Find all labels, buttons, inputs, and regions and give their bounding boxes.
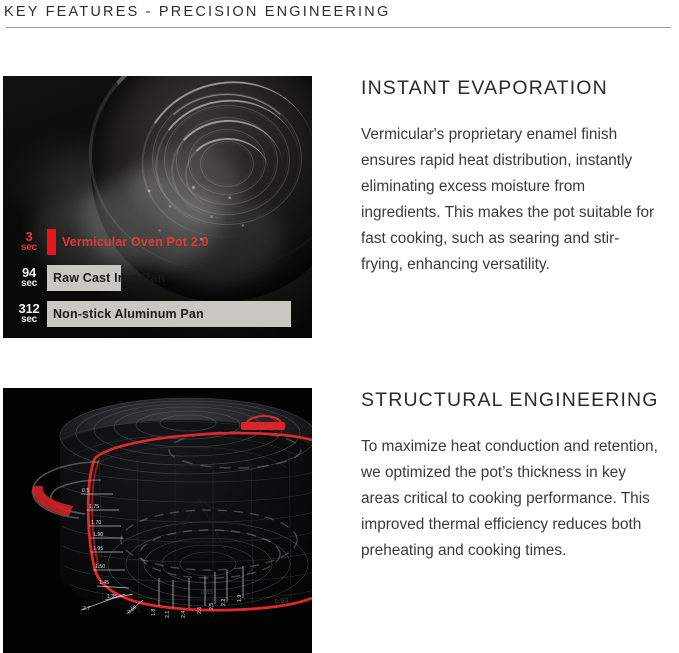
bar-value-number: 3 [11,231,47,242]
svg-text:2.7: 2.7 [83,606,90,612]
feature-heading: STRUCTURAL ENGINEERING [361,389,669,412]
feature-heading: INSTANT EVAPORATION [361,77,669,100]
cad-wireframe-diagram: 0.5 1.75 1.70 1.90 1.95 1.50 1.45 1.35 2… [3,388,312,653]
bar-category-label: Vermicular Oven Pot 2.0 [62,235,209,249]
feature-body-text: Vermicular's proprietary enamel finish e… [361,122,661,278]
svg-text:1.45: 1.45 [99,580,109,586]
svg-text:1.35: 1.35 [107,594,117,600]
bar-value-number: 312 [11,303,47,314]
evaporation-time-bar-chart: 3secVermicular Oven Pot 2.094secRaw Cast… [11,227,291,329]
bar-chart-row: 94secRaw Cast Iron Pan [11,263,291,293]
page-header: KEY FEATURES - PRECISION ENGINEERING [0,0,679,28]
svg-text:1.95: 1.95 [93,546,103,552]
svg-text:2.2: 2.2 [221,599,227,606]
bar-value-label: 3sec [11,231,47,253]
bar-track: Vermicular Oven Pot 2.0 [47,229,291,255]
svg-text:0.5: 0.5 [82,488,89,494]
bar-fill [47,229,56,255]
feature-section-structural-engineering: 0.5 1.75 1.70 1.90 1.95 1.50 1.45 1.35 2… [3,388,679,653]
svg-text:1.75: 1.75 [89,504,99,510]
cad-background: 0.5 1.75 1.70 1.90 1.95 1.50 1.45 1.35 2… [3,388,312,653]
header-divider [6,27,671,28]
bar-track: Non-stick Aluminum Pan [47,301,291,327]
svg-text:1.8: 1.8 [151,609,157,616]
bar-value-label: 94sec [11,267,47,289]
bar-category-label: Non-stick Aluminum Pan [53,307,204,321]
bar-track: Raw Cast Iron Pan [47,265,291,291]
svg-text:0.85: 0.85 [201,590,213,596]
svg-text:1.9: 1.9 [237,595,243,602]
svg-text:1.90: 1.90 [93,532,103,538]
svg-text:1.70: 1.70 [91,520,101,526]
bar-value-number: 94 [11,267,47,278]
bar-category-label: Raw Cast Iron Pan [53,271,165,285]
svg-text:2.6: 2.6 [197,607,203,614]
svg-text:2.1: 2.1 [165,611,171,618]
bar-value-unit: sec [11,278,47,289]
feature-section-instant-evaporation: 3secVermicular Oven Pot 2.094secRaw Cast… [3,76,679,338]
feature-text-instant-evaporation: INSTANT EVAPORATION Vermicular's proprie… [312,76,679,278]
bar-value-label: 312sec [11,303,47,325]
bar-chart-row: 312secNon-stick Aluminum Pan [11,299,291,329]
bar-value-unit: sec [11,242,47,253]
svg-text:2.4: 2.4 [181,611,187,618]
page-title: KEY FEATURES - PRECISION ENGINEERING [4,4,679,20]
feature-body-text: To maximize heat conduction and retentio… [361,434,661,564]
bar-value-unit: sec [11,314,47,325]
svg-text:2.5: 2.5 [209,603,215,610]
svg-text:1.50: 1.50 [95,564,105,570]
bar-chart-row: 3secVermicular Oven Pot 2.0 [11,227,291,257]
cad-wireframe-svg: 0.5 1.75 1.70 1.90 1.95 1.50 1.45 1.35 2… [3,388,312,653]
feature-text-structural-engineering: STRUCTURAL ENGINEERING To maximize heat … [312,388,679,564]
steaming-pot-photo: 3secVermicular Oven Pot 2.094secRaw Cast… [3,76,312,338]
